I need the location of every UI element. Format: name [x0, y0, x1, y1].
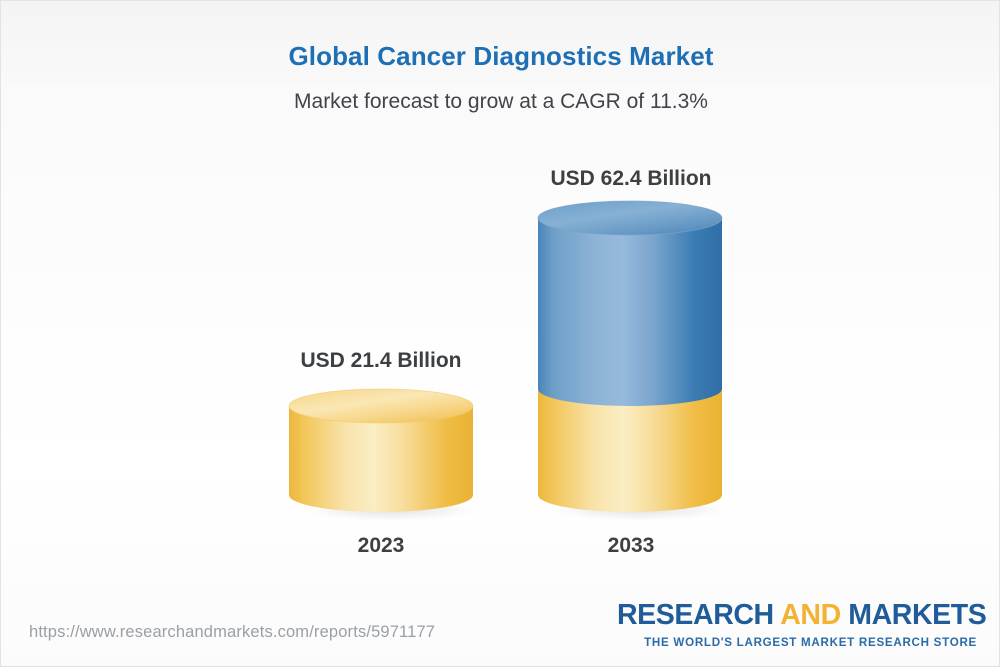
logo-tagline: THE WORLD'S LARGEST MARKET RESEARCH STOR… [617, 636, 977, 649]
logo-word-research: RESEARCH [617, 599, 780, 631]
chart-canvas: Global Cancer Diagnostics Market Market … [0, 0, 1000, 667]
bar-value-label-2033: USD 62.4 Billion [441, 167, 821, 191]
research-and-markets-logo[interactable]: RESEARCH AND MARKETS THE WORLD'S LARGEST… [617, 601, 977, 649]
chart-plot-area: USD 21.4 Billion [1, 1, 1000, 667]
source-url[interactable]: https://www.researchandmarkets.com/repor… [29, 623, 435, 642]
bar-value-label-2023: USD 21.4 Billion [191, 349, 571, 373]
logo-word-markets: MARKETS [848, 599, 986, 631]
cylinder-bar-2023 [283, 386, 483, 526]
bar-category-label-2033: 2033 [441, 534, 821, 558]
logo-word-and: AND [780, 599, 848, 631]
cylinder-bar-2033 [532, 198, 732, 526]
logo-wordmark: RESEARCH AND MARKETS [617, 601, 977, 630]
